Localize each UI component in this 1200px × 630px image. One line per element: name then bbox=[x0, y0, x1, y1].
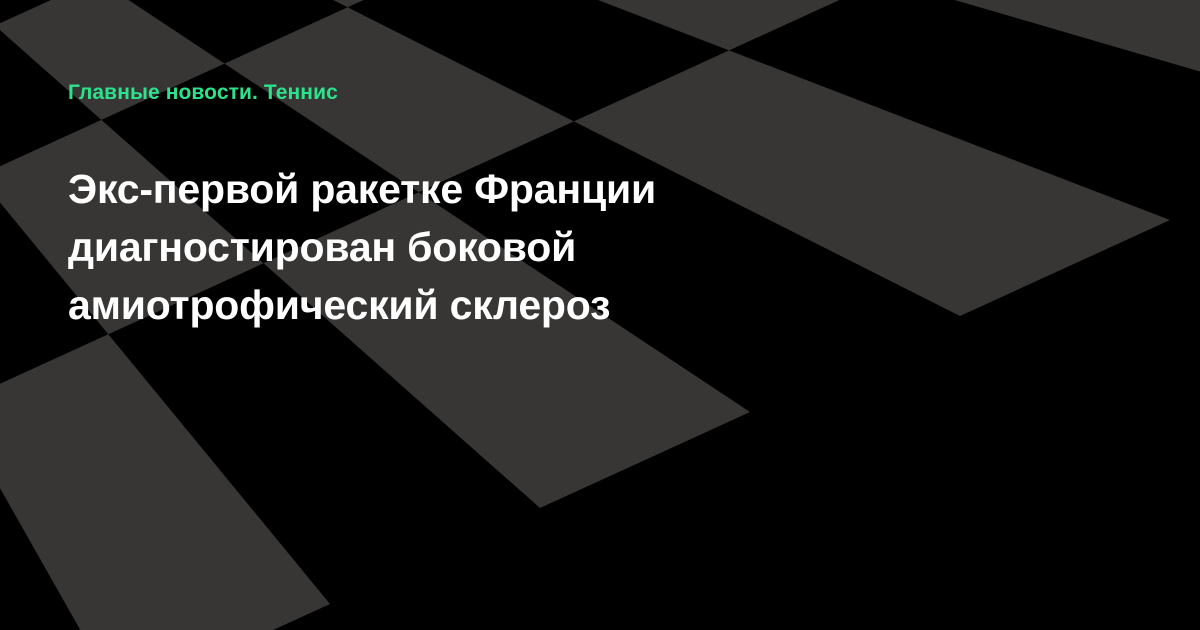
headline-line-2: диагностирован боковой bbox=[68, 218, 858, 276]
headline-line-3: амиотрофический склероз bbox=[68, 276, 858, 334]
headline-line-1: Экс-первой ракетке Франции bbox=[68, 160, 858, 218]
checkerboard-tile bbox=[884, 0, 1200, 124]
text-block: Главные новости. Теннис Экс-первой ракет… bbox=[68, 0, 868, 630]
news-share-card: Главные новости. Теннис Экс-первой ракет… bbox=[0, 0, 1200, 630]
kicker-category-label: Главные новости. Теннис bbox=[68, 80, 338, 106]
page-title: Экс-первой ракетке Франции диагностирова… bbox=[68, 160, 858, 334]
